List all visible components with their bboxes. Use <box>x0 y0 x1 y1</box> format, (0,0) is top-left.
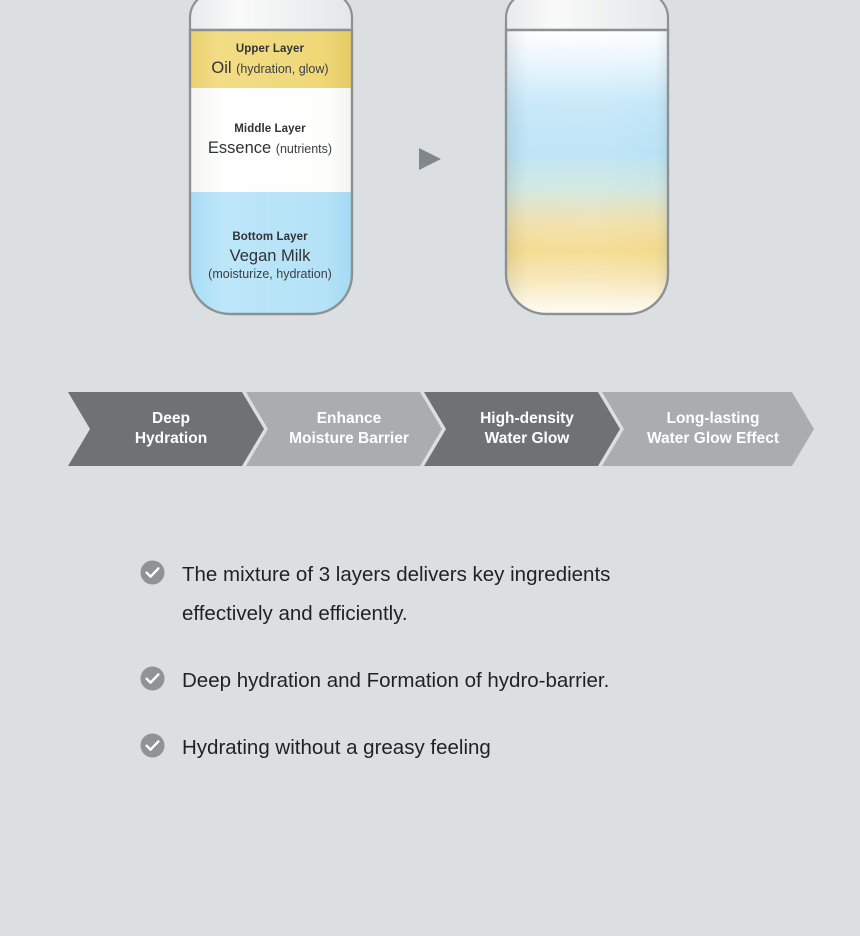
layered-product-bottle <box>186 0 356 340</box>
layer-fill-upper <box>186 30 356 88</box>
flow-step-3-line2: Water Glow <box>485 430 570 447</box>
flow-step-2[interactable]: Enhance Moisture Barrier <box>246 392 442 466</box>
flow-step-1-text: Deep Hydration <box>119 409 213 449</box>
flow-step-1[interactable]: Deep Hydration <box>68 392 264 466</box>
benefit-text: Deep hydration and Formation of hydro-ba… <box>182 662 609 701</box>
check-circle-icon <box>140 560 165 585</box>
bottle-comparison-stage: Upper Layer Oil (hydration, glow) Middle… <box>0 0 860 350</box>
list-item: Deep hydration and Formation of hydro-ba… <box>140 662 780 701</box>
flow-step-1-line2: Hydration <box>135 430 207 447</box>
product-infographic-page: Upper Layer Oil (hydration, glow) Middle… <box>0 0 860 936</box>
flow-step-3[interactable]: High-density Water Glow <box>424 392 620 466</box>
bottle-side-shading <box>502 30 672 320</box>
layer-fill-middle <box>186 88 356 192</box>
layer-fill-bottom <box>186 192 356 322</box>
flow-step-4-line1: Long-lasting <box>667 410 760 427</box>
flow-step-4[interactable]: Long-lasting Water Glow Effect <box>602 392 814 466</box>
benefit-text-line2: effectively and efficiently. <box>182 602 408 625</box>
flow-step-1-line1: Deep <box>152 410 190 427</box>
benefit-list: The mixture of 3 layers delivers key ing… <box>140 556 780 796</box>
check-circle-icon <box>140 733 165 758</box>
mixed-product-bottle <box>502 0 672 340</box>
list-item: Hydrating without a greasy feeling <box>140 729 780 768</box>
flow-arrow <box>412 142 446 176</box>
benefit-text: The mixture of 3 layers delivers key ing… <box>182 556 610 634</box>
bottle-shoulder <box>506 0 668 30</box>
flow-step-2-line2: Moisture Barrier <box>289 430 409 447</box>
list-item: The mixture of 3 layers delivers key ing… <box>140 556 780 634</box>
flow-step-4-text: Long-lasting Water Glow Effect <box>631 409 785 449</box>
bottle-shoulder <box>190 0 352 30</box>
flow-step-3-line1: High-density <box>480 410 574 427</box>
flow-step-2-line1: Enhance <box>317 410 382 427</box>
check-circle-icon <box>140 666 165 691</box>
benefit-flow-banner: Deep Hydration Enhance Moisture Barrier … <box>68 392 788 466</box>
play-triangle-right-icon <box>419 148 441 170</box>
flow-step-3-text: High-density Water Glow <box>464 409 580 449</box>
flow-step-4-line2: Water Glow Effect <box>647 430 779 447</box>
flow-step-2-text: Enhance Moisture Barrier <box>273 409 415 449</box>
benefit-text: Hydrating without a greasy feeling <box>182 729 491 768</box>
benefit-text-line1: The mixture of 3 layers delivers key ing… <box>182 563 610 586</box>
